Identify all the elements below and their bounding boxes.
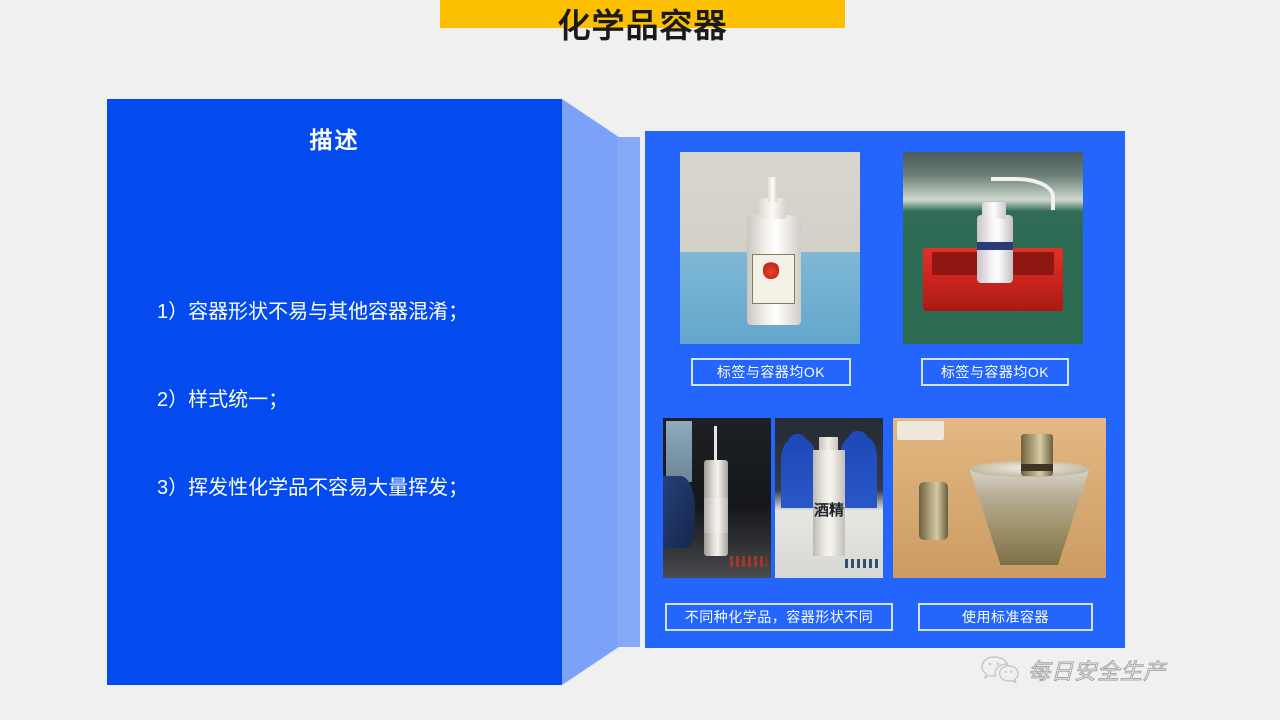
description-panel: 描述 1）容器形状不易与其他容器混淆； 2）样式统一； 3）挥发性化学品不容易大… — [107, 99, 640, 685]
caption-use-standard-container: 使用标准容器 — [918, 603, 1093, 631]
list-item: 1）容器形状不易与其他容器混淆； — [157, 299, 557, 325]
photo-metal-standard-container — [893, 418, 1106, 578]
list-item: 2）样式统一； — [157, 387, 557, 413]
page-title: 化学品容器 — [440, 8, 845, 44]
list-item: 3）挥发性化学品不容易大量挥发； — [157, 475, 557, 501]
description-list: 1）容器形状不易与其他容器混淆； 2）样式统一； 3）挥发性化学品不容易大量挥发… — [157, 299, 557, 563]
description-header: 描述 — [107, 121, 562, 155]
caption-label-and-container-ok-right: 标签与容器均OK — [921, 358, 1069, 386]
wechat-icon — [980, 654, 1020, 686]
photos-panel: 标签与容器均OK 标签与容器均OK 酒精 不同种化学品，容器形状不同 使用标准容… — [645, 131, 1125, 648]
photo-alcohol-bottle-gloved-hand — [663, 418, 771, 578]
photo-wash-bottle-in-red-tray — [903, 152, 1083, 344]
caption-different-chemicals-different-shapes: 不同种化学品，容器形状不同 — [665, 603, 893, 631]
flammable-hazard-symbol-icon — [763, 261, 779, 278]
watermark-text: 每日安全生产 — [1028, 654, 1166, 686]
watermark: 每日安全生产 — [980, 648, 1166, 692]
photo-white-bottle-with-hazard-label — [680, 152, 860, 344]
description-panel-arrow-fold — [617, 137, 640, 647]
caption-label-and-container-ok-left: 标签与容器均OK — [691, 358, 851, 386]
bottle-label-text: 酒精 — [814, 482, 844, 540]
photo-square-alcohol-bottle-workshop: 酒精 — [775, 418, 883, 578]
